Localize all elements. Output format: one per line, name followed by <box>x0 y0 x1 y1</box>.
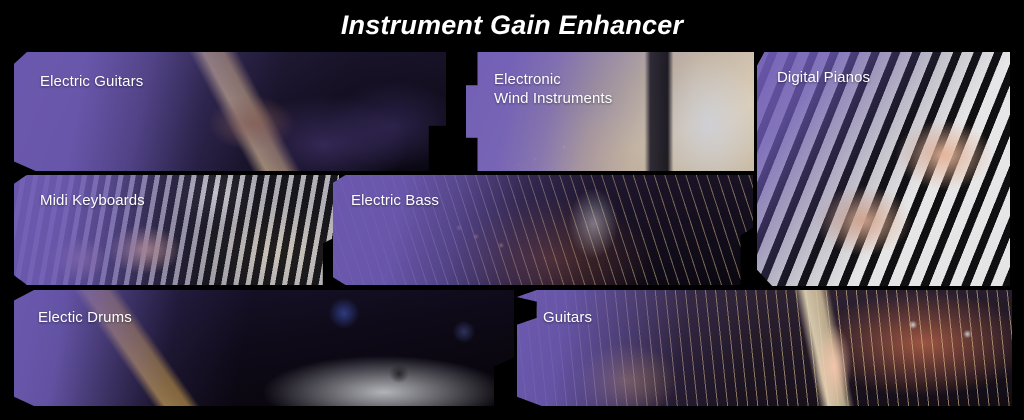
panel-electic-drums[interactable]: Electic Drums <box>14 290 514 406</box>
panel-label-electric-bass: Electric Bass <box>351 191 439 210</box>
panel-label-midi-keyboards: Midi Keyboards <box>40 191 145 210</box>
panel-label-electric-guitars: Electric Guitars <box>40 72 143 91</box>
panel-label-electronic-wind-instruments: Electronic Wind Instruments <box>494 70 612 108</box>
panel-digital-pianos[interactable]: Digital Pianos <box>757 52 1010 286</box>
page-title: Instrument Gain Enhancer <box>0 8 1024 42</box>
panel-label-guitars: Guitars <box>543 308 592 327</box>
panel-electric-guitars[interactable]: Electric Guitars <box>14 52 446 171</box>
panel-electronic-wind-instruments[interactable]: Electronic Wind Instruments <box>466 52 754 171</box>
panel-electric-bass[interactable]: Electric Bass <box>333 175 753 285</box>
panel-image-digital-pianos <box>757 52 1010 286</box>
instrument-gain-enhancer-banner: Instrument Gain Enhancer Electric Guitar… <box>0 0 1024 420</box>
panel-label-electic-drums: Electic Drums <box>38 308 132 327</box>
panel-image-electric-guitars <box>14 52 446 171</box>
panel-guitars[interactable]: Guitars <box>517 290 1012 406</box>
panel-midi-keyboards[interactable]: Midi Keyboards <box>14 175 339 285</box>
panel-label-digital-pianos: Digital Pianos <box>777 68 870 87</box>
